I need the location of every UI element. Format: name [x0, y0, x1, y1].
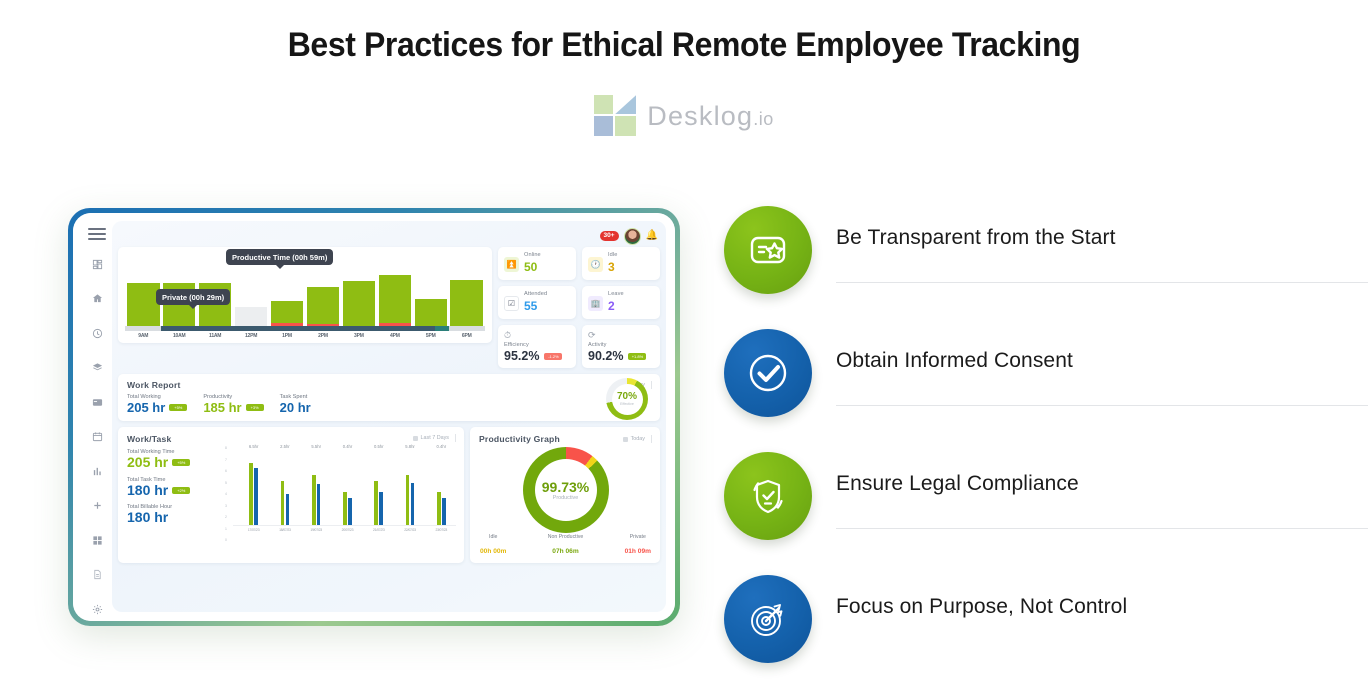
dashboard-sidebar[interactable] — [82, 221, 112, 612]
stat-card-idle[interactable]: 🕐 Idle 3 — [582, 247, 660, 280]
productivity-donut-chart: 99.73% Productive — [523, 447, 609, 533]
grouped-bars — [233, 449, 456, 525]
donut-sublabel: Effective — [620, 402, 634, 406]
dashboard-row-top: 9AM 10AM 11AM 12PM 1PM 2PM 3PM 4PM 5PM 6… — [118, 247, 660, 368]
x-tick: 17/07/23 — [239, 528, 268, 532]
speedometer-icon: ⏱ — [504, 330, 511, 341]
dashboard-row-bottom: Work/Task Total Working Time 205 hr +5% … — [118, 427, 660, 563]
target-arrow-icon — [724, 575, 812, 663]
gear-icon[interactable] — [87, 599, 107, 619]
page-title: Best Practices for Ethical Remote Employ… — [41, 26, 1327, 65]
stat-label: Idle — [608, 252, 617, 258]
bar-pair[interactable] — [302, 449, 331, 525]
home-icon[interactable] — [87, 289, 107, 309]
grid-icon[interactable] — [87, 530, 107, 550]
check-circle-icon — [724, 329, 812, 417]
list-item-label: Ensure Legal Compliance — [836, 472, 1079, 496]
x-tick: 5PM — [415, 333, 448, 339]
badge-star-icon — [724, 206, 812, 294]
document-icon[interactable] — [87, 565, 107, 585]
item-value: 205 hr — [127, 400, 165, 415]
infographic-page: Best Practices for Ethical Remote Employ… — [0, 0, 1368, 680]
donut-value: 70% — [617, 392, 637, 402]
stat-card-attended[interactable]: ☑ Attended 55 — [498, 286, 576, 319]
dashboard-topbar: 30+ 🔔 — [118, 225, 660, 247]
effective-donut-chart: 70% Effective — [606, 378, 648, 420]
item-delta-pill: +5% — [169, 404, 187, 411]
timeline-axis-strip — [125, 326, 485, 331]
item-delta-pill: +5% — [172, 459, 190, 466]
legend-value: 01h 09m — [625, 548, 651, 555]
stat-value: 50 — [524, 260, 537, 274]
card-icon[interactable] — [87, 392, 107, 412]
list-item-label: Obtain Informed Consent — [836, 349, 1073, 373]
item-delta-pill: +3% — [246, 404, 264, 411]
signal-icon: ⏫ — [504, 257, 519, 272]
metric-delta-pill: -1.2% — [544, 353, 562, 360]
y-tick: 7 — [225, 458, 227, 462]
brand-name: Desklog.io — [647, 101, 773, 132]
divider — [836, 282, 1368, 283]
x-tick: 4PM — [379, 333, 412, 339]
work-report-item: Total Working 205 hr +5% — [127, 394, 187, 415]
stat-label: Online — [524, 252, 541, 258]
stat-value: 2 — [608, 299, 615, 313]
work-report-item: Task Spent 20 hr — [280, 394, 311, 415]
y-tick: 0 — [225, 538, 227, 542]
item-value: 180 hr — [127, 510, 168, 526]
panel-title: Work/Task — [127, 434, 223, 444]
dashboard-icon[interactable] — [87, 254, 107, 274]
list-item[interactable]: Obtain Informed Consent — [716, 319, 1368, 442]
x-tick: 11AM — [199, 333, 232, 339]
x-tick: 6PM — [450, 333, 483, 339]
selector-label: Last 7 Days — [421, 435, 449, 441]
stat-card-leave[interactable]: 🏢 Leave 2 — [582, 286, 660, 319]
x-tick: 9AM — [127, 333, 160, 339]
work-report-item: Productivity 185 hr +3% — [203, 394, 263, 415]
legend-item-non-productive: Non Productive 07h 06m — [548, 534, 583, 558]
clock-icon[interactable] — [87, 323, 107, 343]
layers-icon[interactable] — [87, 358, 107, 378]
panel-title: Work Report — [127, 380, 181, 390]
legend-value: 00h 00m — [480, 548, 506, 555]
work-report-panel: Work Report Today Total Working 205 hr — [118, 374, 660, 421]
activity-icon: ⟳ — [588, 330, 596, 341]
building-icon: 🏢 — [588, 296, 603, 311]
x-tick: 21/07/23 — [364, 528, 393, 532]
x-tick: 18/07/23 — [270, 528, 299, 532]
item-value: 20 hr — [280, 400, 311, 415]
brand-logo: Desklog.io — [0, 95, 1368, 137]
divider — [836, 528, 1368, 529]
calendar-icon — [623, 437, 628, 442]
hamburger-menu-icon[interactable] — [88, 228, 106, 240]
clock-icon: 🕐 — [588, 257, 603, 272]
notification-badge[interactable]: 30+ — [600, 231, 619, 241]
x-tick: 20/07/23 — [333, 528, 362, 532]
timeline-x-labels: 9AM 10AM 11AM 12PM 1PM 2PM 3PM 4PM 5PM 6… — [125, 331, 485, 339]
x-tick: 1PM — [271, 333, 304, 339]
bar-pair[interactable] — [270, 449, 299, 525]
work-task-bar-chart: Last 7 Days 8 7 6 5 4 3 — [223, 434, 456, 558]
x-tick: 22/07/23 — [395, 528, 424, 532]
item-value: 205 hr — [127, 455, 168, 471]
x-tick: 19/07/23 — [302, 528, 331, 532]
timeline-chart-card: 9AM 10AM 11AM 12PM 1PM 2PM 3PM 4PM 5PM 6… — [118, 247, 492, 343]
stat-value: 55 — [524, 299, 537, 313]
donut-legend: Idle 00h 00m Non Productive 07h 06m Priv… — [479, 534, 652, 558]
bar-column[interactable] — [450, 254, 483, 326]
metric-delta-pill: +1.8% — [628, 353, 646, 360]
tablet-device-mockup: 30+ 🔔 — [68, 208, 680, 626]
work-task-panel: Work/Task Total Working Time 205 hr +5% … — [118, 427, 464, 563]
tooltip-productive-time: Productive Time (00h 59m) — [226, 249, 333, 265]
y-tick: 5 — [225, 481, 227, 485]
best-practices-list: Be Transparent from the Start Obtain Inf… — [716, 196, 1368, 680]
x-tick: 2PM — [307, 333, 340, 339]
y-tick: 6 — [225, 469, 227, 473]
item-value: 185 hr — [203, 400, 241, 415]
metric-card-efficiency[interactable]: ⏱ Efficiency 95.2% -1.2% — [498, 325, 576, 368]
productivity-graph-panel: Productivity Graph Today 99.73% — [470, 427, 660, 563]
bar-pair[interactable] — [395, 449, 424, 525]
y-axis-ticks: 8 7 6 5 4 3 2 1 0 — [225, 446, 227, 542]
date-range-selector[interactable]: Today — [623, 435, 652, 443]
dashboard-main: 30+ 🔔 — [112, 221, 666, 612]
x-axis-ticks: 17/07/23 18/07/23 19/07/23 20/07/23 21/0… — [233, 525, 456, 532]
brand-suffix: .io — [753, 109, 774, 129]
selector-label: Today — [631, 436, 645, 442]
metric-label: Activity — [588, 342, 607, 348]
legend-item-idle: Idle 00h 00m — [480, 534, 506, 558]
bar-pair[interactable] — [239, 449, 268, 525]
metric-label: Efficiency — [504, 342, 529, 348]
work-task-item: Total Billable Hour 180 hr — [127, 504, 223, 526]
donut-center-label: Productive — [553, 495, 578, 501]
bell-icon[interactable]: 🔔 — [646, 231, 658, 241]
y-tick: 1 — [225, 527, 227, 531]
list-item[interactable]: Ensure Legal Compliance — [716, 442, 1368, 565]
legend-label: Idle — [480, 534, 506, 540]
item-value: 180 hr — [127, 483, 168, 499]
shield-check-refresh-icon — [724, 452, 812, 540]
list-item[interactable]: Focus on Purpose, Not Control — [716, 565, 1368, 680]
avatar[interactable] — [624, 228, 641, 245]
check-box-icon: ☑ — [504, 296, 519, 311]
legend-item-private: Private 01h 09m — [625, 534, 651, 558]
tooltip-private-time: Private (00h 29m) — [156, 289, 230, 305]
legend-value: 07h 06m — [552, 548, 578, 555]
calendar-icon[interactable] — [87, 427, 107, 447]
bar-column[interactable] — [379, 254, 412, 326]
bar-column[interactable] — [127, 254, 160, 326]
calendar-icon — [413, 436, 418, 441]
work-task-item: Total Working Time 205 hr +5% — [127, 449, 223, 471]
work-task-item: Total Task Time 180 hr +2% — [127, 477, 223, 499]
list-item-label: Be Transparent from the Start — [836, 226, 1116, 250]
bar-pair[interactable] — [364, 449, 393, 525]
bar-column[interactable] — [343, 254, 376, 326]
y-tick: 2 — [225, 515, 227, 519]
divider — [836, 405, 1368, 406]
list-item-label: Focus on Purpose, Not Control — [836, 595, 1127, 619]
donut-center-value: 99.73% — [542, 480, 589, 494]
bar-pair[interactable] — [333, 449, 362, 525]
bar-column[interactable] — [415, 254, 448, 326]
bar-pair[interactable] — [427, 449, 456, 525]
stat-card-online[interactable]: ⏫ Online 50 — [498, 247, 576, 280]
legend-label: Non Productive — [548, 534, 583, 540]
y-tick: 4 — [225, 492, 227, 496]
metric-value: 95.2% — [504, 349, 539, 363]
x-tick: 12PM — [235, 333, 268, 339]
legend-label: Private — [625, 534, 651, 540]
four-square-grid-icon — [594, 95, 638, 137]
metric-value: 90.2% — [588, 349, 623, 363]
x-tick: 3PM — [343, 333, 376, 339]
y-tick: 8 — [225, 446, 227, 450]
stat-cards-group: ⏫ Online 50 🕐 Idle 3 — [498, 247, 660, 368]
panel-title: Productivity Graph — [479, 434, 560, 444]
date-range-selector[interactable]: Last 7 Days — [413, 434, 456, 442]
chart-bars-icon[interactable] — [87, 461, 107, 481]
stat-label: Attended — [524, 291, 547, 297]
stat-value: 3 — [608, 260, 615, 274]
y-tick: 3 — [225, 504, 227, 508]
list-item[interactable]: Be Transparent from the Start — [716, 196, 1368, 319]
metric-card-activity[interactable]: ⟳ Activity 90.2% +1.8% — [582, 325, 660, 368]
plus-icon[interactable] — [87, 496, 107, 516]
stat-label: Leave — [608, 291, 624, 297]
item-delta-pill: +2% — [172, 487, 190, 494]
x-tick: 10AM — [163, 333, 196, 339]
x-tick: 23/07/23 — [427, 528, 456, 532]
